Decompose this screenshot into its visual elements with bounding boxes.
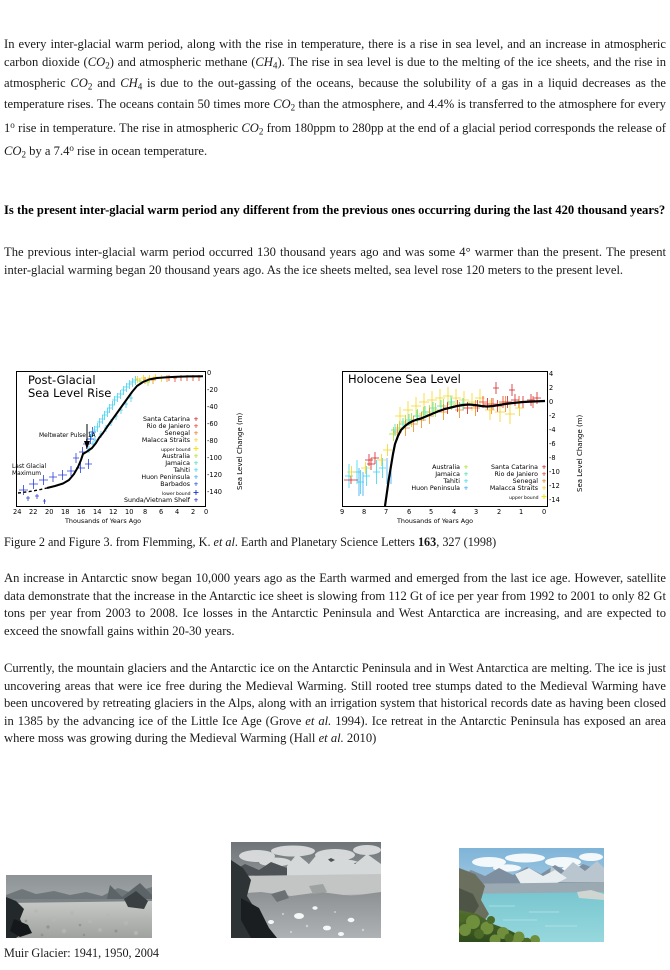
p1-seg-h: from 180ppm to 280pp at the end of a gla… — [263, 120, 666, 134]
legend-item-jamaica: Jamaica + — [104, 460, 200, 467]
legend-label: Jamaica — [165, 460, 190, 467]
legend-item-australia: Australia + — [104, 453, 200, 460]
figcap-etal: et al — [214, 535, 235, 549]
p1-ch4-2: CH — [120, 76, 138, 90]
legend-label: Tahiti — [173, 467, 190, 474]
figure-caption: Figure 2 and Figure 3. from Flemming, K.… — [4, 535, 666, 550]
left-y-axis-title: Sea Level Change (m) — [236, 413, 244, 490]
left-ytick-80: -80 — [207, 437, 218, 445]
left-xtick-8: 8 — [143, 508, 147, 516]
photo-muir-glacier-1941 — [6, 875, 152, 938]
chart-post-glacial-sea-level-rise: Post-Glacial Sea Level Rise Meltwater Pu… — [8, 368, 258, 528]
p1-co2-3: CO — [273, 97, 291, 111]
legend-marker: + — [192, 423, 200, 430]
legend-label: Rio de Janiero — [494, 471, 538, 478]
photo-2004-svg — [459, 848, 604, 942]
legend-label: upper bound — [509, 496, 538, 501]
left-curve-dashed — [18, 488, 47, 493]
legend-item-upper-bound: upper bound + — [474, 492, 548, 501]
legend-label: Malacca Straits — [142, 437, 190, 444]
right-xtick-3: 3 — [474, 508, 478, 516]
legend-item-jamaica: Jamaica + — [402, 471, 470, 478]
photo-muir-glacier-2004 — [459, 848, 604, 942]
legend-label: Huon Peninsula — [141, 474, 190, 481]
legend-item-tahiti: Tahiti + — [402, 478, 470, 485]
right-ytick-4: 4 — [549, 370, 553, 378]
legend-marker: + — [192, 430, 200, 437]
right-xtick-4: 4 — [452, 508, 456, 516]
legend-marker: + — [192, 481, 200, 488]
legend-marker: + — [192, 444, 200, 453]
left-ytick-40: -40 — [207, 403, 218, 411]
annotation-meltwater-pulse: Meltwater Pulse 1A — [39, 433, 95, 440]
legend-marker: + — [540, 492, 548, 501]
left-chart-title: Post-Glacial Sea Level Rise — [28, 374, 111, 400]
p1-seg-b: ) and atmospheric methane ( — [110, 55, 256, 69]
legend-item-rio-de-janiero: Rio de Janiero + — [474, 471, 548, 478]
left-xtick-22: 22 — [29, 508, 37, 516]
right-xtick-2: 2 — [497, 508, 501, 516]
right-x-axis-title: Thousands of Years Ago — [397, 517, 473, 525]
legend-label: Australia — [432, 464, 460, 471]
legend-label: Australia — [162, 453, 190, 460]
figures-row: Post-Glacial Sea Level Rise Meltwater Pu… — [0, 368, 670, 528]
legend-item-barbados: Barbados + — [104, 481, 200, 488]
p1-seg-d: and — [92, 76, 120, 90]
document-page: In every inter-glacial warm period, alon… — [0, 0, 670, 970]
left-xtick-24: 24 — [13, 508, 21, 516]
right-ytick-m8: -8 — [549, 454, 556, 462]
legend-marker: + — [192, 497, 200, 504]
right-ytick-m2: -2 — [549, 412, 556, 420]
right-ytick-2: 2 — [549, 384, 553, 392]
right-ytick-0: 0 — [549, 398, 553, 406]
legend-item-huon-peninsula: Huon Peninsula + — [104, 474, 200, 481]
left-xtick-10: 10 — [125, 508, 133, 516]
figcap-pre: Figure 2 and Figure 3. from Flemming, K. — [4, 535, 214, 549]
legend-marker: + — [192, 488, 200, 497]
right-ytick-m14: -14 — [549, 496, 560, 504]
photo-caption-muir-glacier: Muir Glacier: 1941, 1950, 2004 — [4, 946, 404, 961]
right-ytick-m10: -10 — [549, 468, 560, 476]
chart-holocene-sea-level: Holocene Sea Level Australia + Jamaica +… — [336, 368, 606, 528]
left-ytick-20: -20 — [207, 386, 218, 394]
legend-marker: + — [192, 467, 200, 474]
right-xtick-9: 9 — [340, 508, 344, 516]
legend-item-sunda-vietnam-shelf: Sunda/Vietnam Shelf + — [104, 497, 200, 504]
figcap-mid: . Earth and Planetary Science Letters — [235, 535, 418, 549]
legend-marker: + — [192, 474, 200, 481]
figcap-post: , 327 (1998) — [436, 535, 496, 549]
right-legend-col-2: Santa Catarina + Rio de Janiero + Senega… — [474, 464, 548, 501]
legend-item-rio-de-janiero: Rio de Janiero + — [104, 423, 200, 430]
paragraph-glacier-retreat: Currently, the mountain glaciers and the… — [4, 660, 666, 748]
p1-ch4-1: CH — [255, 55, 273, 69]
legend-item-tahiti: Tahiti + — [104, 467, 200, 474]
figcap-volume: 163 — [418, 535, 436, 549]
right-xtick-8: 8 — [362, 508, 366, 516]
legend-marker: + — [462, 485, 470, 492]
left-x-axis-title: Thousands of Years Ago — [65, 517, 141, 525]
legend-item-malacca-straits: Malacca Straits + — [104, 437, 200, 444]
p1-seg-j: rise in ocean temperature. — [74, 144, 207, 158]
legend-marker: + — [192, 437, 200, 444]
legend-marker: + — [462, 471, 470, 478]
legend-marker: + — [192, 460, 200, 467]
right-ytick-m4: -4 — [549, 426, 556, 434]
paragraph-antarctic-snow: An increase in Antarctic snow began 10,0… — [4, 570, 666, 640]
p1-co2-4: CO — [241, 120, 259, 134]
left-xtick-0: 0 — [204, 508, 208, 516]
left-ytick-0: 0 — [207, 369, 211, 377]
legend-label: Sunda/Vietnam Shelf — [124, 497, 190, 504]
legend-marker: + — [540, 485, 548, 492]
legend-label: Santa Catarina — [143, 416, 190, 423]
right-chart-legend: Australia + Jamaica + Tahiti + Huon Peni… — [402, 464, 548, 501]
p1-seg-i: by a 7.4 — [26, 144, 69, 158]
right-chart-title: Holocene Sea Level — [348, 373, 461, 386]
legend-label: Senegal — [513, 478, 538, 485]
legend-item-senegal: Senegal + — [474, 478, 548, 485]
legend-label: Tahiti — [443, 478, 460, 485]
p4-etal-2: et al. — [319, 731, 344, 745]
left-ytick-60: -60 — [207, 420, 218, 428]
p1-co2-1: CO — [88, 55, 106, 69]
legend-label: Huon Peninsula — [411, 485, 460, 492]
left-xtick-4: 4 — [175, 508, 179, 516]
legend-label: Barbados — [160, 481, 190, 488]
legend-marker: + — [540, 478, 548, 485]
paragraph-intro: In every inter-glacial warm period, alon… — [4, 36, 666, 164]
legend-item-huon-peninsula: Huon Peninsula + — [402, 485, 470, 492]
left-chart-legend: Santa Catarina + Rio de Janiero + Senega… — [104, 416, 200, 504]
right-xtick-5: 5 — [429, 508, 433, 516]
legend-item-senegal: Senegal + — [104, 430, 200, 437]
right-xtick-0: 0 — [542, 508, 546, 516]
legend-item-malacca-straits: Malacca Straits + — [474, 485, 548, 492]
legend-label: Malacca Straits — [490, 485, 538, 492]
p4-seg-c: 2010) — [344, 731, 377, 745]
legend-label: Jamaica — [435, 471, 460, 478]
p1-seg-g: rise in temperature. The rise in atmosph… — [15, 120, 242, 134]
left-ytick-100: -100 — [207, 454, 222, 462]
right-ytick-m6: -6 — [549, 440, 556, 448]
legend-label: Rio de Janiero — [146, 423, 190, 430]
right-xtick-7: 7 — [384, 508, 388, 516]
legend-marker: + — [192, 416, 200, 423]
right-xtick-1: 1 — [519, 508, 523, 516]
legend-marker: + — [192, 453, 200, 460]
legend-marker: + — [540, 471, 548, 478]
legend-item-santa-catarina: Santa Catarina + — [474, 464, 548, 471]
p1-co2-5: CO — [4, 144, 22, 158]
left-xtick-14: 14 — [93, 508, 101, 516]
left-xtick-12: 12 — [109, 508, 117, 516]
left-ytick-120: -120 — [207, 471, 222, 479]
p1-co2-2: CO — [70, 76, 88, 90]
left-xtick-6: 6 — [159, 508, 163, 516]
legend-marker: + — [462, 464, 470, 471]
paragraph-previous-interglacial: The previous inter-glacial warm period o… — [4, 244, 666, 279]
right-ytick-m12: -12 — [549, 482, 560, 490]
p4-etal-1: et al. — [305, 714, 331, 728]
legend-item-lower-bound: lower bound + — [104, 488, 200, 497]
photo-1941-svg — [6, 875, 152, 938]
legend-item-australia: Australia + — [402, 464, 470, 471]
right-y-axis-title: Sea Level Change (m) — [576, 415, 584, 492]
photo-1950-svg — [231, 842, 381, 938]
legend-label: Senegal — [165, 430, 190, 437]
legend-label: Santa Catarina — [491, 464, 538, 471]
legend-marker: + — [462, 478, 470, 485]
left-xtick-18: 18 — [61, 508, 69, 516]
right-legend-col-1: Australia + Jamaica + Tahiti + Huon Peni… — [402, 464, 470, 501]
left-xtick-2: 2 — [191, 508, 195, 516]
legend-item-santa-catarina: Santa Catarina + — [104, 416, 200, 423]
legend-marker: + — [540, 464, 548, 471]
section-heading-question: Is the present inter-glacial warm period… — [4, 202, 666, 220]
photo-muir-glacier-1950 — [231, 842, 381, 938]
right-xtick-6: 6 — [407, 508, 411, 516]
left-xtick-20: 20 — [45, 508, 53, 516]
legend-item-upper-bound: upper bound + — [104, 444, 200, 453]
left-xtick-16: 16 — [77, 508, 85, 516]
left-ytick-140: -140 — [207, 488, 222, 496]
annotation-last-glacial-maximum: Last Glacial Maximum — [12, 464, 46, 479]
